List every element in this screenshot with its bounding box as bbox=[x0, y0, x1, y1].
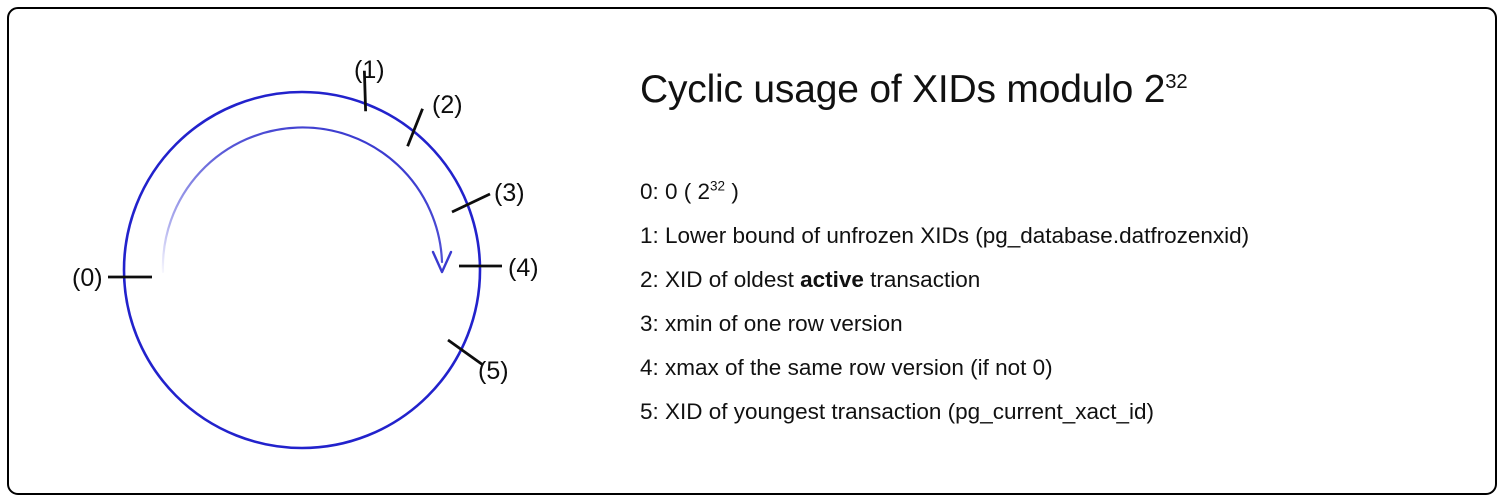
diagram-page: (0) (1) (2) (3) (4) (5) Cyclic usage of … bbox=[0, 0, 1504, 502]
legend-item-2-before: 2: XID of oldest bbox=[640, 267, 800, 292]
tick-label-3: (3) bbox=[494, 179, 525, 207]
tick-mark-3 bbox=[452, 194, 490, 212]
legend-item-2-after: transaction bbox=[864, 267, 980, 292]
page-title-exponent: 32 bbox=[1165, 71, 1187, 93]
clockwise-arrow-arc bbox=[163, 127, 442, 272]
legend-item-2-emphasis: active bbox=[800, 267, 864, 292]
xid-cycle-circle bbox=[124, 92, 480, 448]
tick-label-1: (1) bbox=[354, 56, 385, 84]
legend-item-0: 0: 0 ( 232 ) bbox=[640, 170, 1480, 214]
legend-item-0-exponent: 32 bbox=[710, 179, 725, 194]
tick-label-2: (2) bbox=[432, 91, 463, 119]
cyclic-xid-diagram: (0) (1) (2) (3) (4) (5) bbox=[0, 0, 620, 502]
legend-item-2: 2: XID of oldest active transaction bbox=[640, 258, 1480, 302]
explanation-panel: Cyclic usage of XIDs modulo 232 0: 0 ( 2… bbox=[640, 0, 1490, 502]
legend-item-1: 1: Lower bound of unfrozen XIDs (pg_data… bbox=[640, 214, 1480, 258]
tick-label-0: (0) bbox=[72, 264, 103, 292]
legend-item-0-before: 0: 0 ( 2 bbox=[640, 179, 710, 204]
page-title-text: Cyclic usage of XIDs modulo 2 bbox=[640, 68, 1165, 111]
tick-label-4: (4) bbox=[508, 254, 539, 282]
page-title: Cyclic usage of XIDs modulo 232 bbox=[640, 70, 1187, 111]
legend-item-4: 4: xmax of the same row version (if not … bbox=[640, 346, 1480, 390]
legend-item-3: 3: xmin of one row version bbox=[640, 302, 1480, 346]
legend-list: 0: 0 ( 232 ) 1: Lower bound of unfrozen … bbox=[640, 170, 1480, 434]
legend-item-0-after: ) bbox=[725, 179, 739, 204]
tick-label-5: (5) bbox=[478, 357, 509, 385]
legend-item-5: 5: XID of youngest transaction (pg_curre… bbox=[640, 390, 1480, 434]
